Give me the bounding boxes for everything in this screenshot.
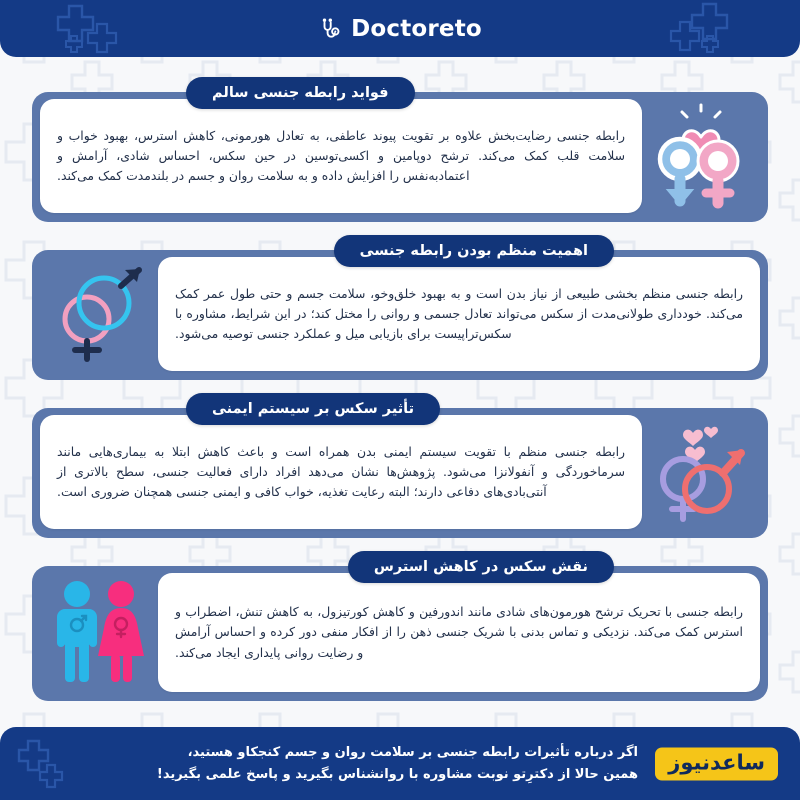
card-body-text: رابطه جنسی منظم بخشی طبیعی از نیاز بدن ا… [175,284,743,344]
card-title-pill: اهمیت منظم بودن رابطه جنسی [334,235,614,267]
card-text-sheet: رابطه جنسی با تحریک ترشح هورمون‌های شادی… [158,573,760,692]
footer-message: اگر درباره تأثیرات رابطه جنسی بر سلامت ر… [150,742,638,784]
footer-decor-icon [14,727,104,800]
header-decor-left-icon [55,0,165,57]
saednews-badge[interactable]: ساعدنیوز [655,747,778,780]
man-and-woman-figures-icon [40,575,158,687]
card-text-sheet: رابطه جنسی رضایت‌بخش علاوه بر تقویت پیون… [40,99,642,213]
card-body-text: رابطه جنسی رضایت‌بخش علاوه بر تقویت پیون… [57,126,625,186]
card-title: نقش سکس در کاهش استرس [374,559,588,575]
brand-name: Doctoreto [351,16,482,42]
brand-logo-group[interactable]: Doctoreto [318,16,482,42]
card-benefits-of-healthy-sex: فواید رابطه جنسی سالم رابطه جنسی رضایت‌ب… [18,77,782,222]
card-title: فواید رابطه جنسی سالم [212,85,389,101]
card-importance-of-regular-sex: اهمیت منظم بودن رابطه جنسی رابطه جنسی من… [18,235,782,380]
interlocking-gender-symbols-icon [40,259,158,371]
gender-symbols-with-hearts-icon [642,417,760,529]
card-title: تأثیر سکس بر سیستم ایمنی [212,401,414,417]
card-text-sheet: رابطه جنسی منظم بخشی طبیعی از نیاز بدن ا… [158,257,760,371]
card-title-pill: نقش سکس در کاهش استرس [348,551,614,583]
header-decor-right-icon [635,0,745,57]
stethoscope-icon [318,16,344,42]
male-female-symbols-with-heart-icon [642,101,760,213]
header-bar: Doctoreto [0,0,800,57]
footer-message-line1: اگر درباره تأثیرات رابطه جنسی بر سلامت ر… [150,742,638,763]
footer-bar: اگر درباره تأثیرات رابطه جنسی بر سلامت ر… [0,727,800,800]
footer-message-line2: همین حالا از دکترِتو نوبت مشاوره با روان… [150,764,638,785]
card-body-text: رابطه جنسی با تحریک ترشح هورمون‌های شادی… [175,602,743,662]
card-sex-and-immune-system: تأثیر سکس بر سیستم ایمنی رابطه جنسی منظم… [18,393,782,538]
infographic-page: Doctoreto فواید رابطه جنسی سالم رابطه جن… [0,0,800,800]
card-body-text: رابطه جنسی منظم با تقویت سیستم ایمنی بدن… [57,442,625,502]
card-sex-and-stress-reduction: نقش سکس در کاهش استرس رابطه جنسی با تحری… [18,551,782,701]
card-title-pill: فواید رابطه جنسی سالم [186,77,415,109]
card-text-sheet: رابطه جنسی منظم با تقویت سیستم ایمنی بدن… [40,415,642,529]
card-title-pill: تأثیر سکس بر سیستم ایمنی [186,393,440,425]
card-title: اهمیت منظم بودن رابطه جنسی [360,243,588,259]
saednews-badge-label: ساعدنیوز [668,752,765,773]
cards-container: فواید رابطه جنسی سالم رابطه جنسی رضایت‌ب… [0,57,800,727]
